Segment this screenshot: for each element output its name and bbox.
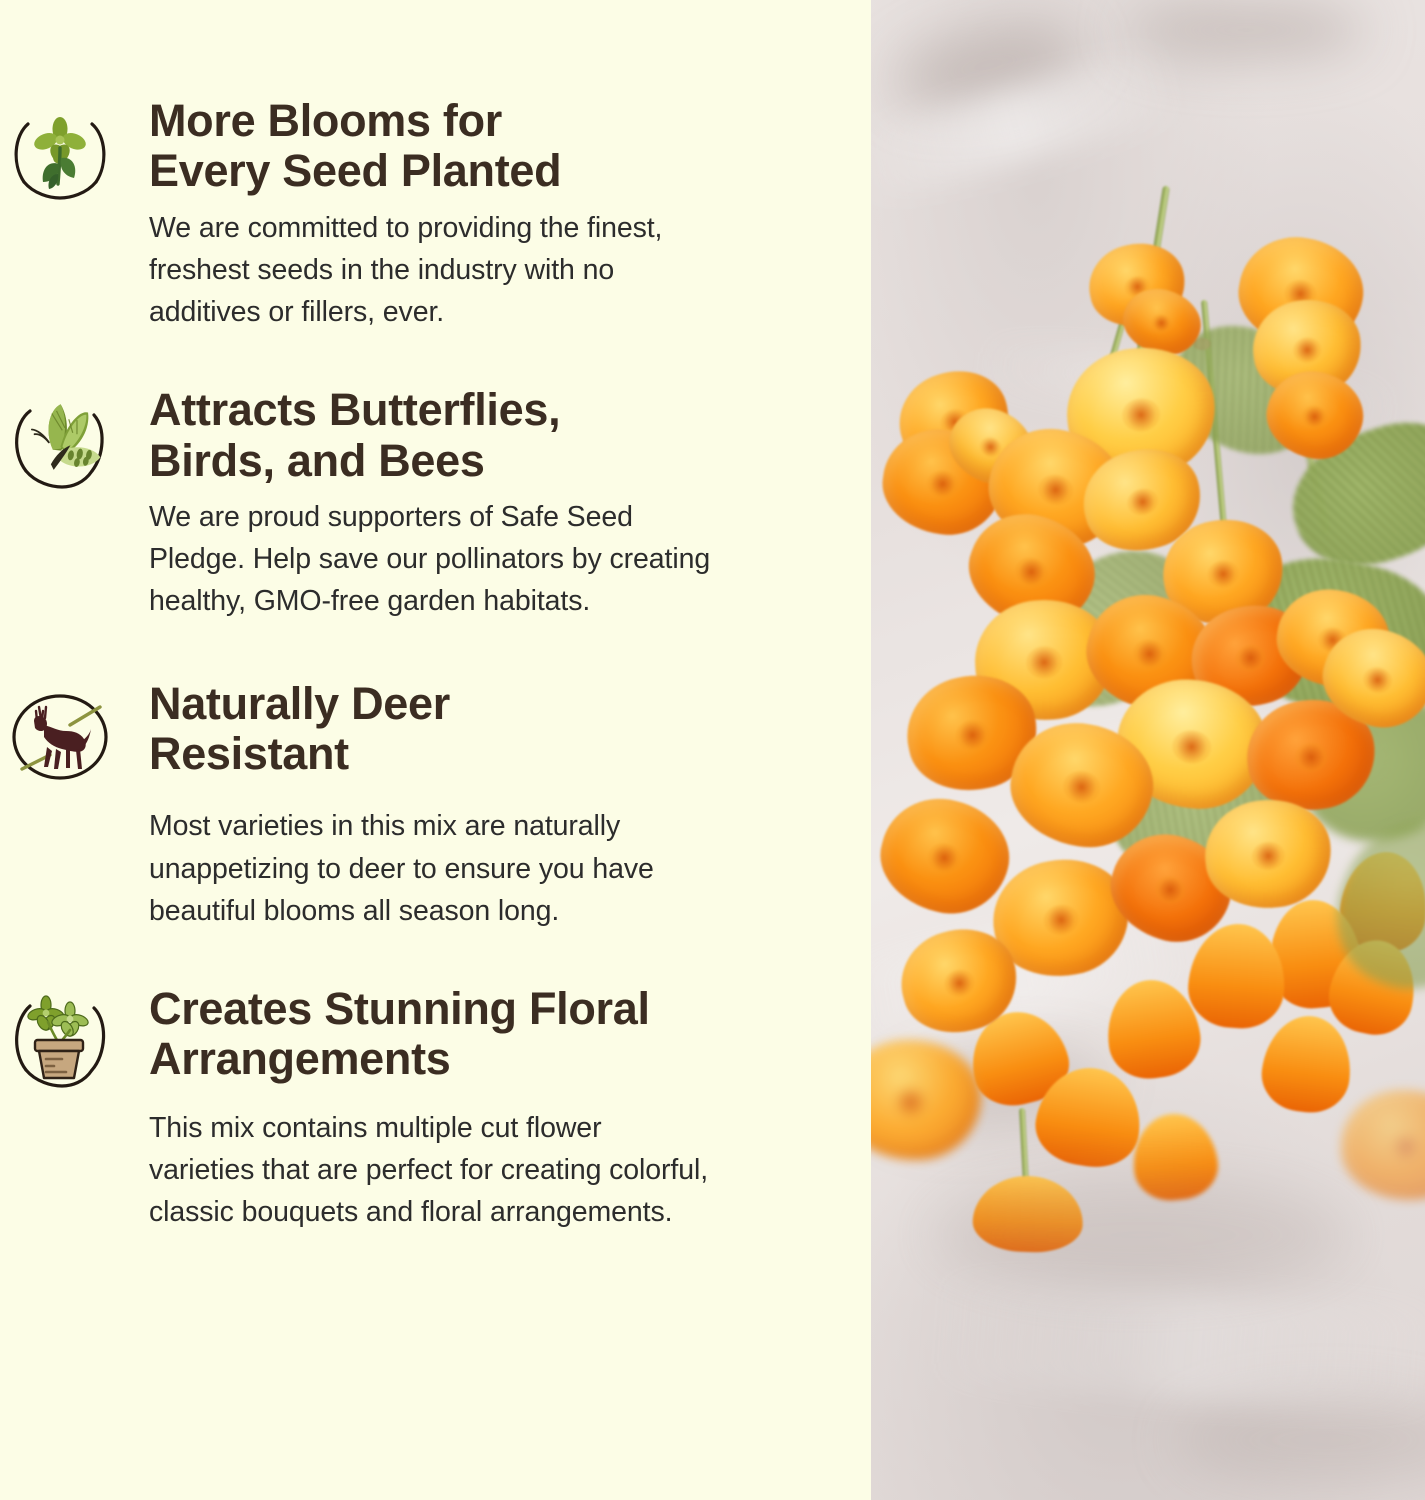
flower-stem xyxy=(1019,1108,1029,1184)
benefit-list: More Blooms for Every Seed Planted We ar… xyxy=(0,96,871,1233)
benefit-title: Naturally Deer Resistant xyxy=(149,679,841,780)
benefits-panel: More Blooms for Every Seed Planted We ar… xyxy=(0,0,871,1500)
benefit-item-deer-resistant: Naturally Deer Resistant Most varieties … xyxy=(0,679,871,932)
potted-plant-icon xyxy=(8,990,112,1094)
benefit-title: Attracts Butterflies, Birds, and Bees xyxy=(149,385,841,486)
benefit-description: This mix contains multiple cut flower va… xyxy=(149,1107,841,1234)
benefit-description: We are committed to providing the finest… xyxy=(149,207,841,334)
poppy-bud xyxy=(1129,1110,1222,1204)
poppy-bloom-blurred xyxy=(1341,1090,1425,1200)
benefit-item-floral-arrangements: Creates Stunning Floral Arrangements Thi… xyxy=(0,984,871,1233)
benefit-text-block: More Blooms for Every Seed Planted We ar… xyxy=(149,96,871,333)
benefit-title: Creates Stunning Floral Arrangements xyxy=(149,984,841,1085)
benefit-description: Most varieties in this mix are naturally… xyxy=(149,805,841,932)
benefit-text-block: Creates Stunning Floral Arrangements Thi… xyxy=(149,984,871,1233)
deer-resistant-icon xyxy=(8,685,112,789)
poppy-bloom-blurred xyxy=(871,1040,981,1160)
product-photo-panel xyxy=(871,0,1425,1500)
benefit-text-block: Naturally Deer Resistant Most varieties … xyxy=(149,679,871,932)
product-benefits-page: More Blooms for Every Seed Planted We ar… xyxy=(0,0,1425,1500)
benefit-item-more-blooms: More Blooms for Every Seed Planted We ar… xyxy=(0,96,871,333)
benefit-description: We are proud supporters of Safe Seed Ple… xyxy=(149,496,841,623)
poppy-bud xyxy=(972,1174,1085,1254)
butterfly-icon xyxy=(8,391,112,495)
flower-sprout-icon xyxy=(8,102,112,206)
benefit-text-block: Attracts Butterflies, Birds, and Bees We… xyxy=(149,385,871,622)
poppy-bud xyxy=(1257,1011,1356,1117)
benefit-item-attracts-pollinators: Attracts Butterflies, Birds, and Bees We… xyxy=(0,385,871,622)
benefit-title: More Blooms for Every Seed Planted xyxy=(149,96,841,197)
poppy-bouquet xyxy=(871,0,1425,1500)
